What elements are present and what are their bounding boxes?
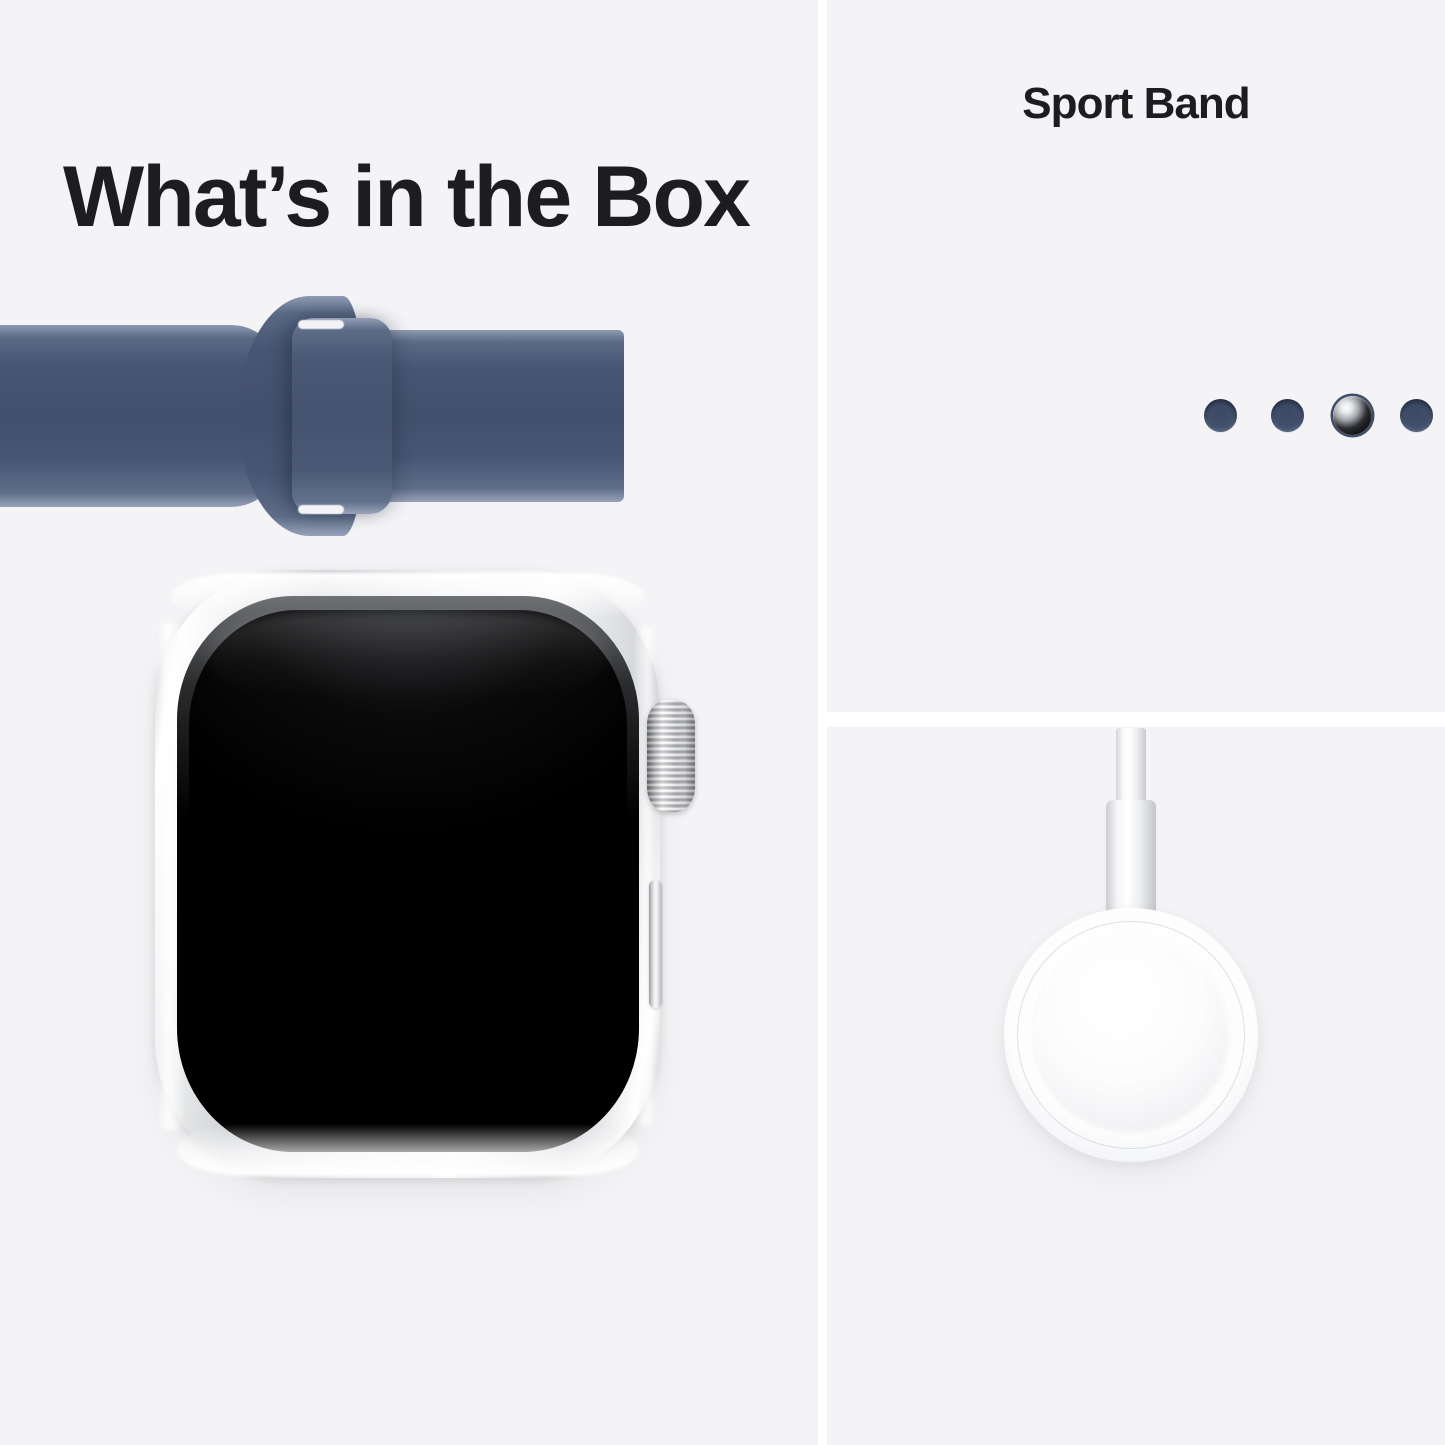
charging-cable-illustration [0, 0, 618, 718]
digital-crown [647, 700, 695, 812]
side-button [649, 880, 662, 1008]
band-pin-hole [1204, 399, 1237, 432]
digital-crown-shading [647, 700, 695, 812]
charging-puck-inner-dome [1034, 936, 1228, 1130]
band-pin-hole [1271, 399, 1304, 432]
panel-sport-band: Sport Band [827, 0, 1445, 712]
band-pin-hole [1400, 399, 1433, 432]
sport-band-label: Sport Band [827, 80, 1445, 128]
cable-strain-relief [1106, 800, 1156, 922]
whats-in-the-box-graphic: What’s in the Box Sport Band [0, 0, 1445, 1445]
watch-rim-bottom-highlight [177, 1124, 639, 1176]
band-metal-pin [1333, 396, 1372, 435]
